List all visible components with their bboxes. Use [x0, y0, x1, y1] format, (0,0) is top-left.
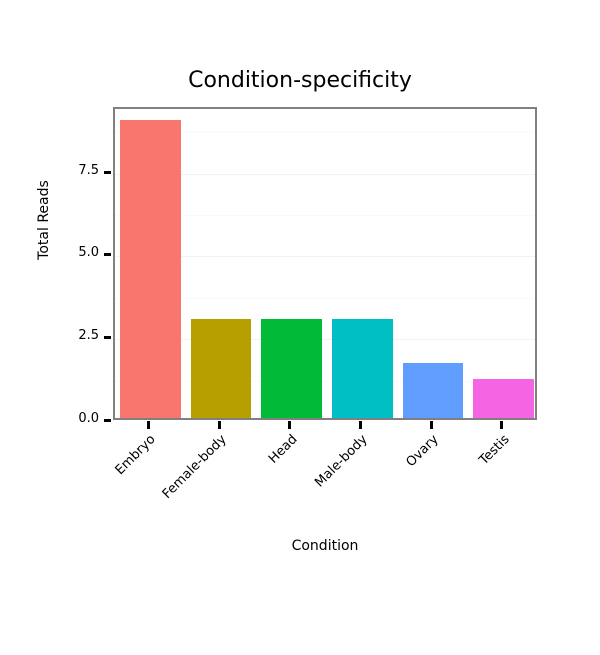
bar	[191, 319, 252, 418]
x-axis-tick-mark	[500, 421, 503, 429]
bar	[332, 319, 393, 418]
bar	[473, 379, 534, 418]
y-axis-tick-label: 7.5	[78, 163, 99, 178]
y-axis-tick-mark	[104, 171, 111, 174]
bar	[261, 319, 322, 418]
x-axis-tick-mark	[430, 421, 433, 429]
y-axis-tick-mark	[104, 336, 111, 339]
chart-title: Condition-specificity	[0, 68, 600, 93]
y-axis-tick-label: 5.0	[78, 245, 99, 260]
y-axis-tick-label: 2.5	[78, 328, 99, 343]
x-axis-tick-mark	[218, 421, 221, 429]
x-axis-tick-mark	[359, 421, 362, 429]
y-axis-tick-mark	[104, 419, 111, 422]
bar-series	[115, 109, 535, 418]
y-axis-title: Total Reads	[34, 212, 54, 228]
y-axis-tick-mark	[104, 253, 111, 256]
x-axis-tick-mark	[147, 421, 150, 429]
chart-figure: Condition-specificity Total Reads Condit…	[0, 0, 600, 600]
panel-inner	[115, 109, 535, 418]
y-axis-tick-label: 0.0	[78, 411, 99, 426]
y-axis-title-text: Total Reads	[36, 165, 52, 275]
plot-panel	[113, 107, 537, 420]
x-axis-tick-mark	[288, 421, 291, 429]
bar	[120, 120, 181, 418]
bar	[403, 363, 464, 418]
